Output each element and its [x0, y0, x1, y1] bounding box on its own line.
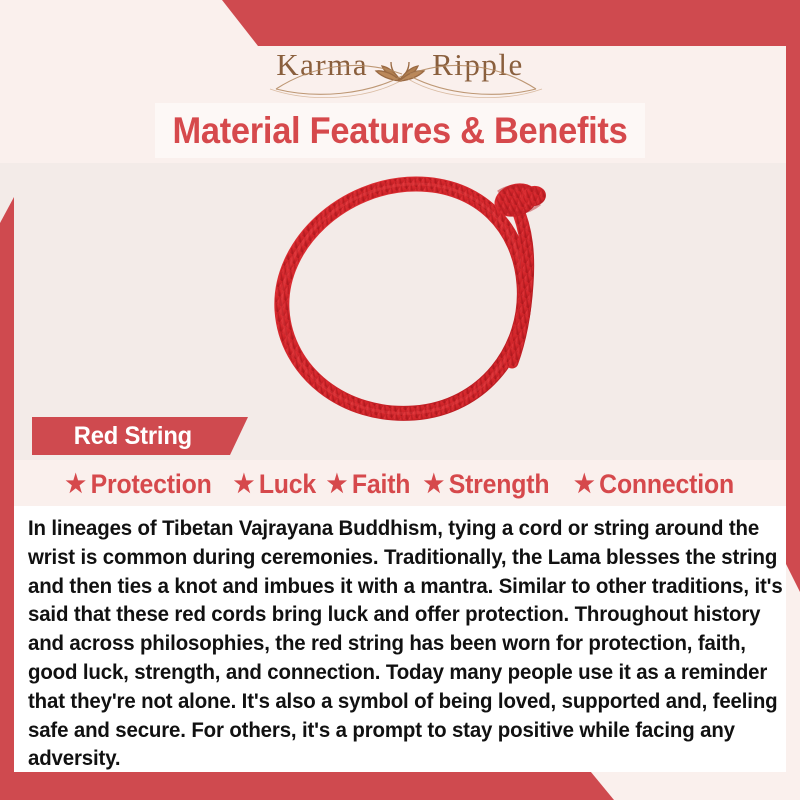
- feature-item-faith: ★ Faith: [327, 469, 411, 500]
- product-image-red-string-bracelet: [248, 172, 578, 434]
- feature-label: Strength: [449, 469, 550, 500]
- feature-item-luck: ★ Luck: [233, 469, 315, 500]
- description-paragraph: In lineages of Tibetan Vajrayana Buddhis…: [28, 514, 797, 773]
- brand-word-left: Karma: [276, 47, 368, 83]
- feature-item-protection: ★ Protection: [65, 469, 211, 500]
- lotus-icon: [374, 45, 426, 85]
- decor-red-right-bar: [786, 46, 800, 592]
- feature-label: Luck: [259, 469, 316, 500]
- star-icon: ★: [574, 472, 595, 497]
- infographic-page: Karma Ripple Material Features & Benefit…: [0, 0, 800, 800]
- brand-logo: Karma Ripple: [0, 36, 800, 94]
- feature-label: Faith: [352, 469, 410, 500]
- star-icon: ★: [327, 472, 348, 497]
- star-icon: ★: [233, 472, 254, 497]
- section-ribbon: Red String: [32, 417, 248, 455]
- feature-label: Connection: [599, 469, 734, 500]
- decor-red-left-bar: [0, 197, 14, 780]
- feature-item-strength: ★ Strength: [424, 469, 550, 500]
- page-title: Material Features & Benefits: [172, 103, 628, 158]
- section-ribbon-label: Red String: [32, 422, 192, 451]
- brand-word-right: Ripple: [432, 47, 524, 83]
- feature-label: Protection: [90, 469, 211, 500]
- feature-list: ★ Protection ★ Luck ★ Faith ★ Strength ★…: [14, 462, 786, 506]
- feature-item-connection: ★ Connection: [574, 469, 734, 500]
- star-icon: ★: [424, 472, 445, 497]
- star-icon: ★: [65, 472, 86, 497]
- description-card: In lineages of Tibetan Vajrayana Buddhis…: [14, 506, 786, 772]
